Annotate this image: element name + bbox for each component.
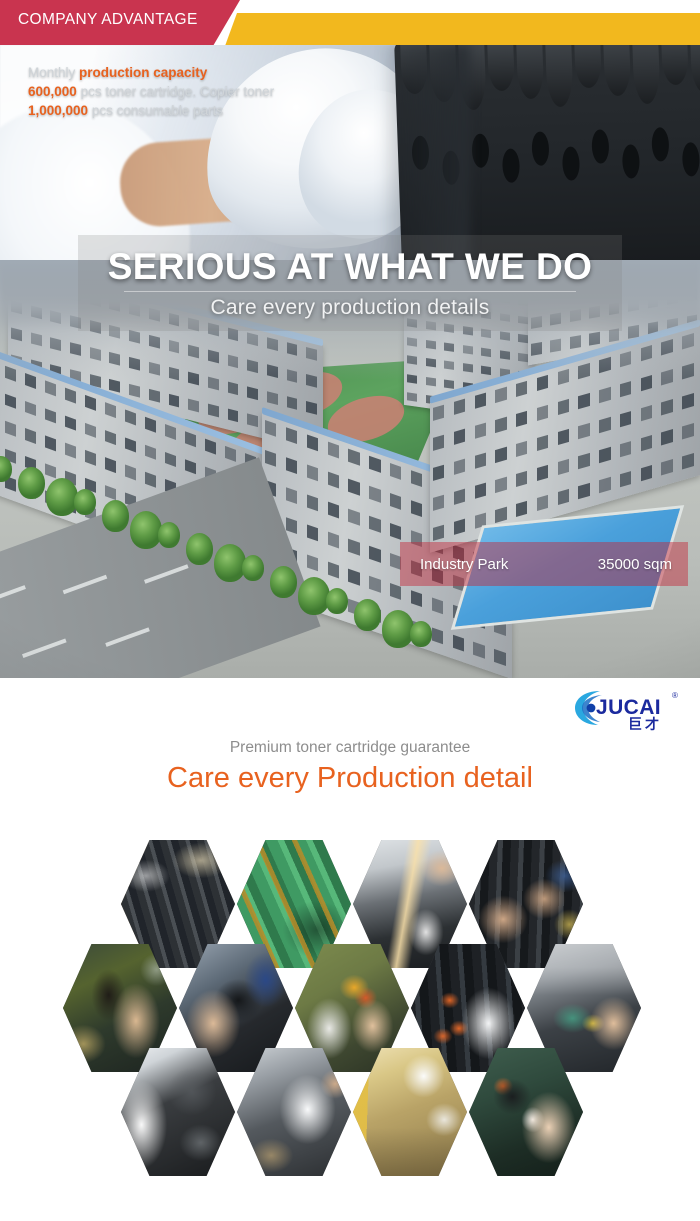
capacity-line-2-number: 600,000 (28, 84, 77, 99)
section-subtitle: Premium toner cartridge guarantee (0, 739, 700, 757)
capacity-line-3: 1,000,000 pcs consumable parts (28, 101, 274, 120)
capacity-callout: Monthly production capacity 600,000 pcs … (28, 63, 274, 120)
section-title: Care every Production detail (0, 762, 700, 795)
header-ribbon-label: COMPANY ADVANTAGE (18, 11, 198, 29)
slogan-divider (124, 291, 576, 292)
header-banner: COMPANY ADVANTAGE (0, 0, 700, 46)
industry-park-label: Industry Park (420, 556, 508, 573)
jucai-logo-svg: JUCAI ® 巨才 (572, 686, 684, 732)
logo-wordmark: JUCAI (596, 696, 661, 719)
capacity-line-3-post: pcs consumable parts (88, 103, 223, 118)
header-accent-stripe (225, 13, 700, 46)
industry-park-area: 35000 sqm (598, 556, 672, 573)
brand-logo: JUCAI ® 巨才 (572, 686, 684, 732)
slogan-overlay: SERIOUS AT WHAT WE DO Care every product… (78, 235, 622, 331)
slogan-headline: SERIOUS AT WHAT WE DO (108, 246, 593, 288)
registered-mark: ® (672, 691, 678, 700)
hero-section: Monthly production capacity 600,000 pcs … (0, 45, 700, 678)
capacity-line-1: Monthly production capacity (28, 63, 274, 82)
capacity-line-3-number: 1,000,000 (28, 103, 88, 118)
capacity-line-2: 600,000 pcs toner cartridge. Copier tone… (28, 82, 274, 101)
capacity-line-2-post: pcs toner cartridge. Copier toner (77, 84, 274, 99)
logo-chinese-name: 巨才 (628, 716, 662, 732)
process-gallery (0, 840, 700, 1160)
capacity-line-1-highlight: production capacity (79, 65, 207, 80)
slogan-subline: Care every production details (211, 296, 490, 320)
capacity-line-1-pre: Monthly (28, 65, 79, 80)
industry-park-badge: Industry Park 35000 sqm (400, 542, 688, 586)
